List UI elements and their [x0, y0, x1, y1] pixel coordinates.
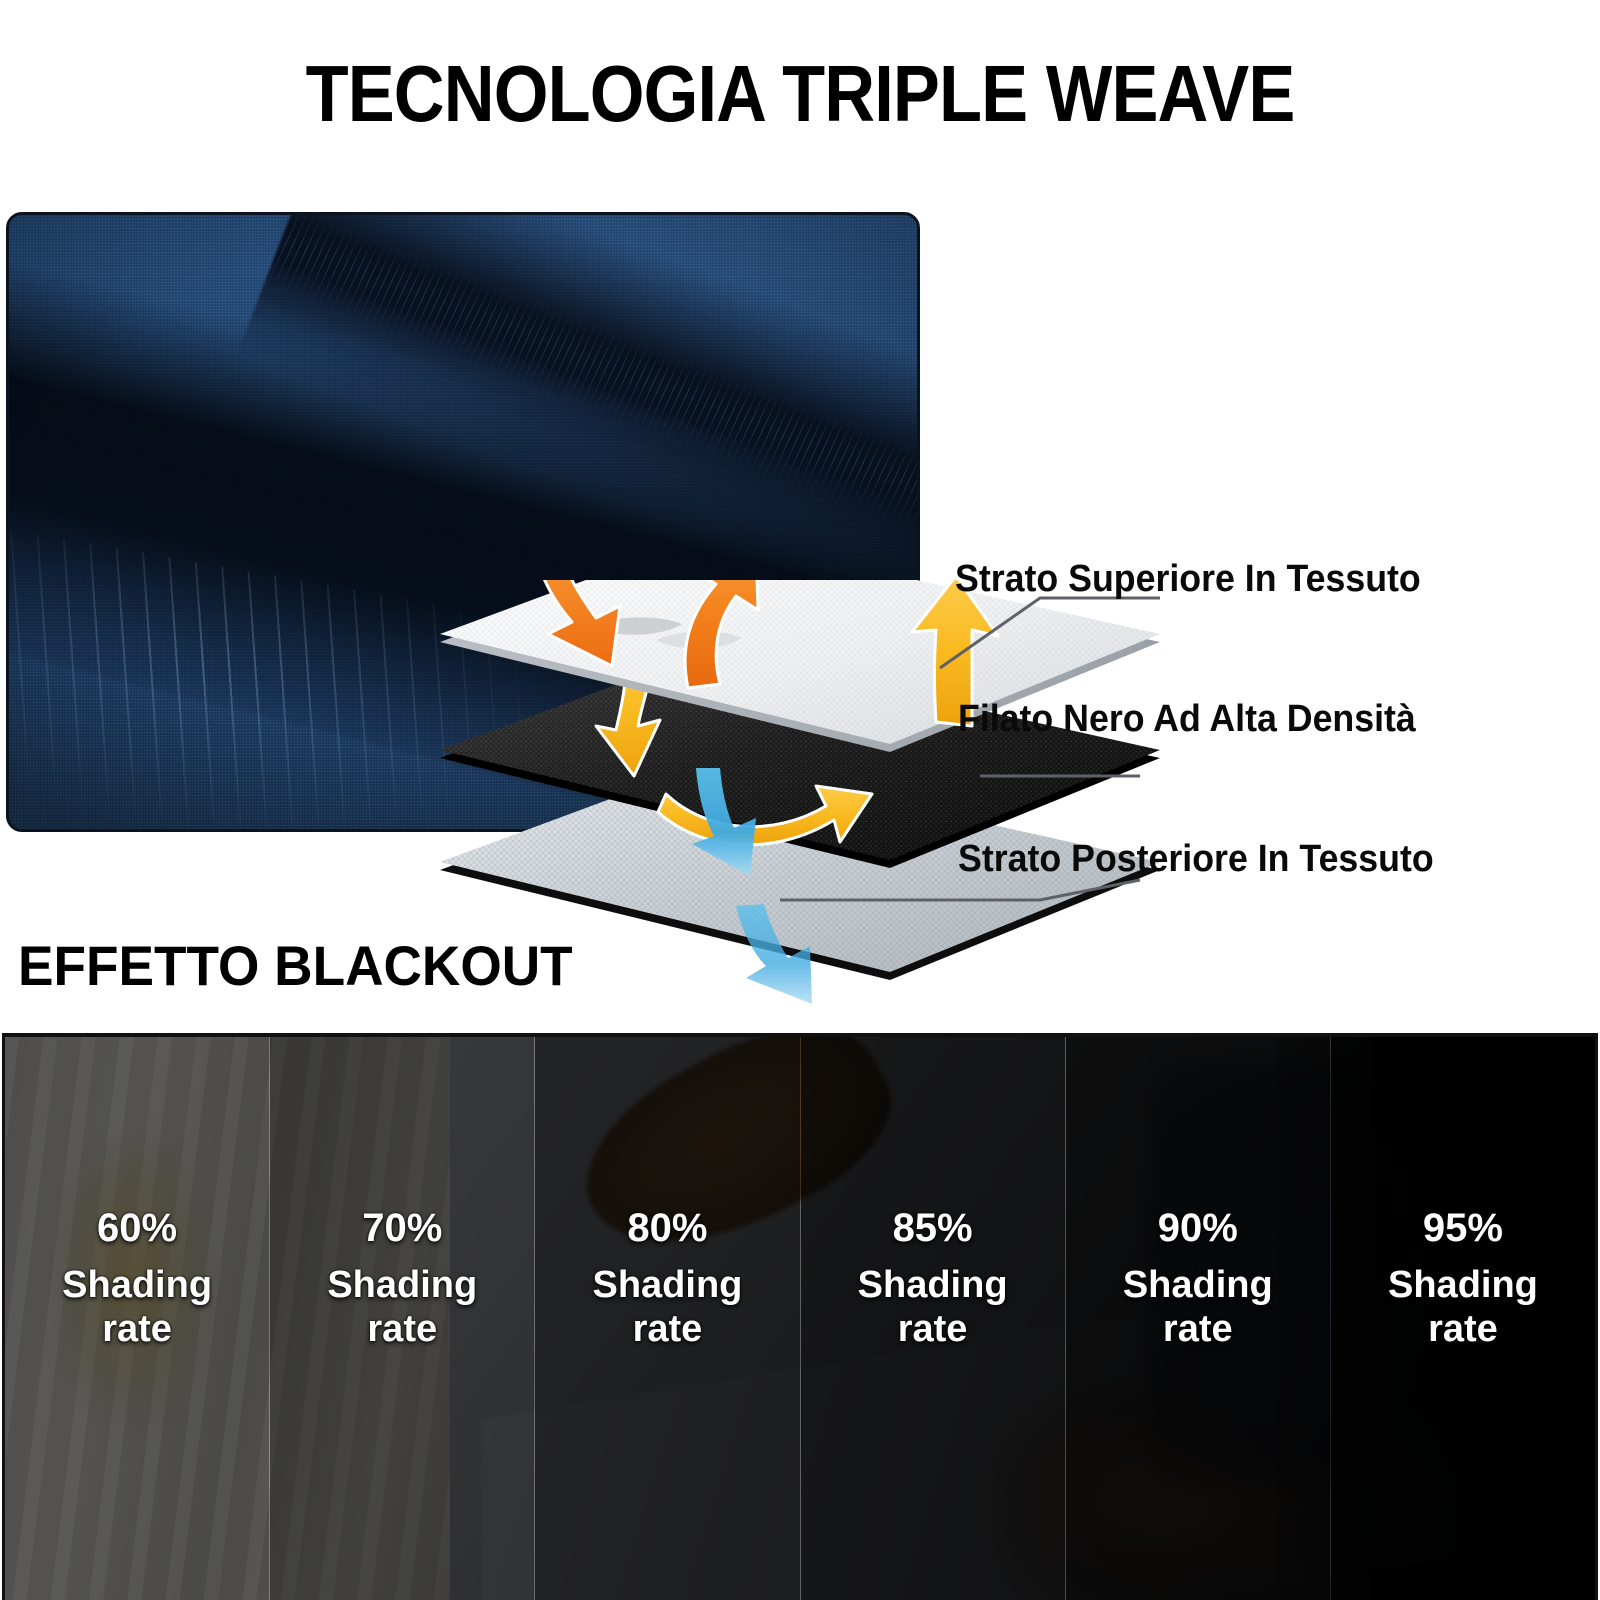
shading-percent: 80%	[592, 1205, 742, 1251]
shading-band-text: 80% Shading rate	[592, 1205, 742, 1352]
shading-band-text: 85% Shading rate	[858, 1205, 1008, 1352]
blackout-demo-strip: 60% Shading rate 70% Shading rate 80% Sh…	[2, 1033, 1598, 1600]
shading-label-line1: Shading	[62, 1263, 212, 1307]
shading-band: 80% Shading rate	[535, 1037, 800, 1600]
shading-percent: 60%	[62, 1205, 212, 1251]
shading-rate-bands: 60% Shading rate 70% Shading rate 80% Sh…	[5, 1037, 1595, 1600]
shading-percent: 95%	[1388, 1205, 1538, 1251]
shading-band-text: 60% Shading rate	[62, 1205, 212, 1352]
shading-band: 60% Shading rate	[5, 1037, 270, 1600]
shading-label-line2: rate	[592, 1307, 742, 1351]
shading-label-line2: rate	[858, 1307, 1008, 1351]
shading-percent: 70%	[327, 1205, 477, 1251]
blackout-section-title: EFFETTO BLACKOUT	[18, 938, 573, 994]
shading-label-line1: Shading	[1388, 1263, 1538, 1307]
shading-label-line1: Shading	[592, 1263, 742, 1307]
page-title: TECNOLOGIA TRIPLE WEAVE	[96, 54, 1504, 134]
shading-label-line1: Shading	[1123, 1263, 1273, 1307]
shading-band: 90% Shading rate	[1066, 1037, 1331, 1600]
shading-percent: 85%	[858, 1205, 1008, 1251]
shading-label-line1: Shading	[858, 1263, 1008, 1307]
shading-label-line2: rate	[327, 1307, 477, 1351]
shading-percent: 90%	[1123, 1205, 1273, 1251]
shading-label-line1: Shading	[327, 1263, 477, 1307]
shading-label-line2: rate	[1388, 1307, 1538, 1351]
shading-band: 85% Shading rate	[801, 1037, 1066, 1600]
shading-band: 70% Shading rate	[270, 1037, 535, 1600]
callout-label-middle-layer: Filato Nero Ad Alta Densità	[958, 700, 1416, 738]
shading-band-text: 95% Shading rate	[1388, 1205, 1538, 1352]
shading-label-line2: rate	[1123, 1307, 1273, 1351]
shading-band-text: 90% Shading rate	[1123, 1205, 1273, 1352]
callout-label-top-layer: Strato Superiore In Tessuto	[955, 560, 1421, 598]
shading-band: 95% Shading rate	[1331, 1037, 1595, 1600]
callout-label-bottom-layer: Strato Posteriore In Tessuto	[958, 840, 1434, 878]
shading-band-text: 70% Shading rate	[327, 1205, 477, 1352]
shading-label-line2: rate	[62, 1307, 212, 1351]
